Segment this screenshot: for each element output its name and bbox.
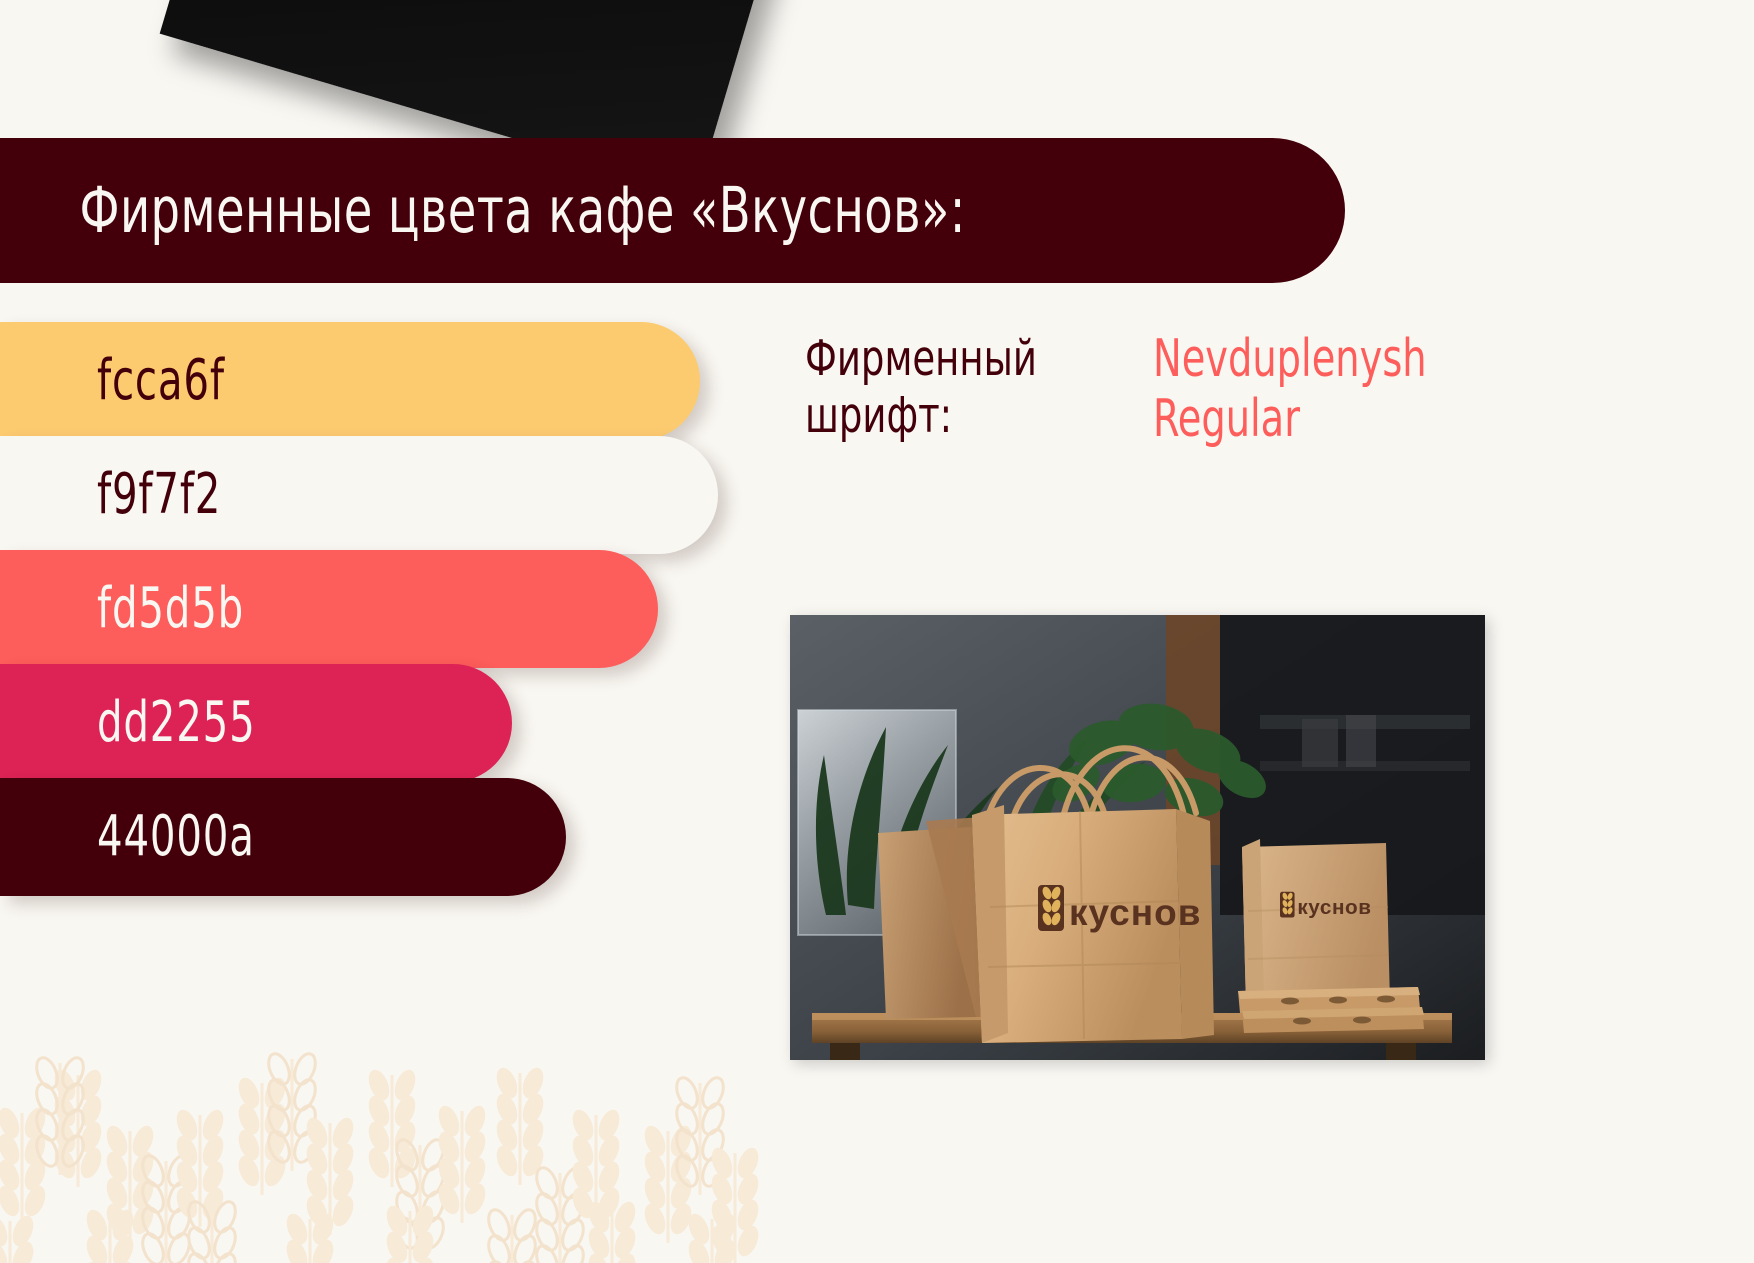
wheat-pattern-decor bbox=[0, 963, 760, 1263]
font-name-line-2: Regular bbox=[1153, 390, 1427, 450]
color-swatch-fd5d5b[interactable]: fd5d5b bbox=[0, 550, 658, 668]
color-palette-list: fcca6f f9f7f2 fd5d5b dd2255 44000a bbox=[0, 322, 718, 892]
page-title: Фирменные цвета кафе «Вкуснов»: bbox=[0, 179, 966, 242]
font-label-group: Фирменный шрифт: bbox=[805, 330, 1081, 445]
title-bar: Фирменные цвета кафе «Вкуснов»: bbox=[0, 138, 1345, 283]
color-hex-label: dd2255 bbox=[97, 695, 256, 751]
color-swatch-dd2255[interactable]: dd2255 bbox=[0, 664, 512, 782]
font-label-line-1: Фирменный bbox=[805, 330, 1037, 387]
color-hex-label: 44000a bbox=[97, 809, 255, 865]
color-hex-label: fd5d5b bbox=[97, 581, 244, 637]
typography-section: Фирменный шрифт: Nevduplenysh Regular bbox=[805, 330, 1487, 450]
font-label-line-2: шрифт: bbox=[805, 387, 1037, 444]
font-name-group: Nevduplenysh Regular bbox=[1153, 330, 1487, 450]
color-hex-label: f9f7f2 bbox=[97, 467, 221, 523]
svg-text:куснов: куснов bbox=[1297, 896, 1371, 919]
brand-guidelines-slide: Фирменные цвета кафе «Вкуснов»: fcca6f f… bbox=[0, 0, 1754, 1263]
font-name-line-1: Nevduplenysh bbox=[1153, 330, 1427, 390]
color-hex-label: fcca6f bbox=[97, 353, 225, 409]
svg-text:куснов: куснов bbox=[1069, 892, 1201, 933]
color-swatch-fcca6f[interactable]: fcca6f bbox=[0, 322, 700, 440]
product-photo: куснов куснов bbox=[790, 615, 1485, 1060]
color-swatch-44000a[interactable]: 44000a bbox=[0, 778, 566, 896]
color-swatch-f9f7f2[interactable]: f9f7f2 bbox=[0, 436, 718, 554]
